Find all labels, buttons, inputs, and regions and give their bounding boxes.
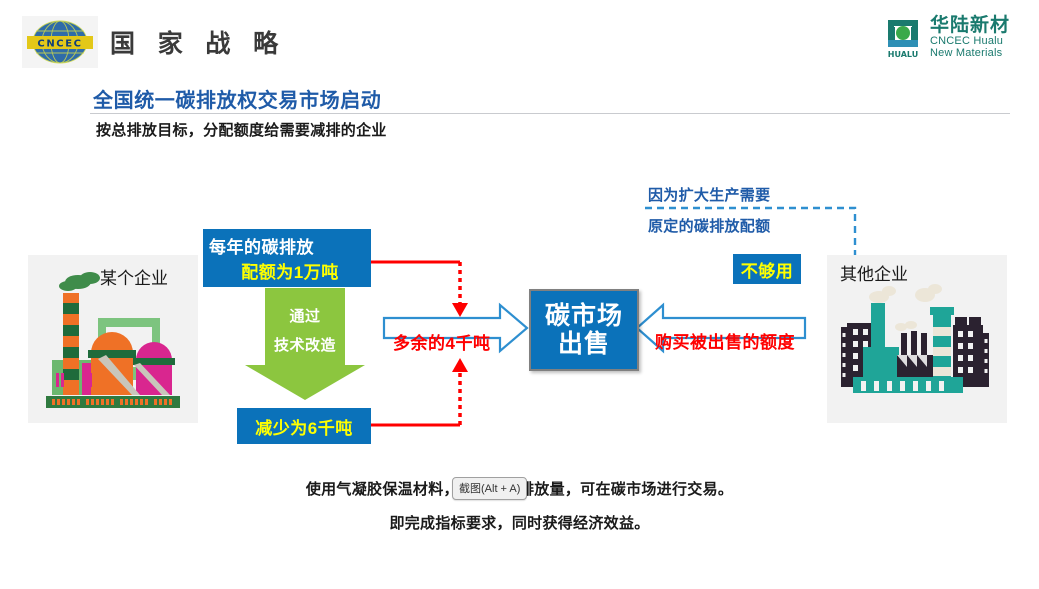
caption-line-2: 即完成指标要求，同时获得经济效益。 [0, 512, 1039, 533]
red-arrowhead-down [452, 303, 468, 317]
tech-upgrade-line2: 技术改造 [255, 334, 355, 355]
surplus-arrow-label: 多余的4千吨 [393, 329, 490, 354]
shortage-line1: 不够用 [741, 257, 794, 282]
purchase-arrow-label: 购买被出售的额度 [655, 328, 795, 353]
tech-upgrade-arrow-label: 通过 技术改造 [255, 290, 355, 395]
caption-part-3: 排放量，可在碳市场进行交易。 [519, 481, 733, 498]
brand-slogan: 国 家 战 略 [110, 24, 285, 60]
hualu-logo: HUALU 华陆新材 CNCEC Hualu New Materials [882, 14, 1017, 62]
screenshot-tooltip[interactable]: 截图(Alt + A) [452, 477, 527, 500]
caption-part-1: 使用气凝胶保温材料，为 [306, 481, 474, 498]
tech-upgrade-line1: 通过 [255, 305, 355, 326]
reduced-emission-box: 减少为6千吨 [237, 408, 371, 444]
hualu-name-en2: New Materials [930, 48, 1010, 60]
page-subtitle: 按总排放目标，分配额度给需要减排的企业 [96, 119, 387, 140]
presentation-slide: CNCEC 国 家 战 略 HUALU 华陆新材 CNCEC Hualu New… [0, 0, 1039, 589]
carbon-market-line1: 碳市场 [545, 302, 623, 330]
annual-quota-line2: 配额为1万吨 [241, 258, 338, 283]
annual-quota-box: 每年的碳排放 配额为1万吨 [203, 229, 371, 287]
hualu-name-cn: 华陆新材 [930, 16, 1010, 36]
reduced-emission-line1: 减少为6千吨 [255, 414, 352, 439]
hualu-logo-mark: HUALU [882, 16, 924, 60]
annual-quota-line1: 每年的碳排放 [209, 233, 314, 258]
red-arrowhead-up [452, 358, 468, 372]
carbon-market-box: 碳市场 出售 [529, 289, 639, 371]
cncec-logo: CNCEC [22, 16, 98, 68]
header-divider [90, 113, 1010, 114]
page-title: 全国统一碳排放权交易市场启动 [93, 84, 381, 113]
left-factory-label: 某个企业 [100, 264, 168, 289]
cncec-logo-text: CNCEC [37, 39, 82, 50]
hualu-mark-label: HUALU [888, 50, 918, 59]
hualu-logo-text: 华陆新材 CNCEC Hualu New Materials [930, 16, 1010, 59]
shortage-box: 不够用 [733, 254, 801, 284]
callout-line-2: 原定的碳排放配额 [648, 215, 770, 236]
callout-line-1: 因为扩大生产需要 [648, 184, 770, 205]
right-factory-label: 其他企业 [840, 260, 908, 285]
carbon-market-line2: 出售 [558, 330, 610, 358]
